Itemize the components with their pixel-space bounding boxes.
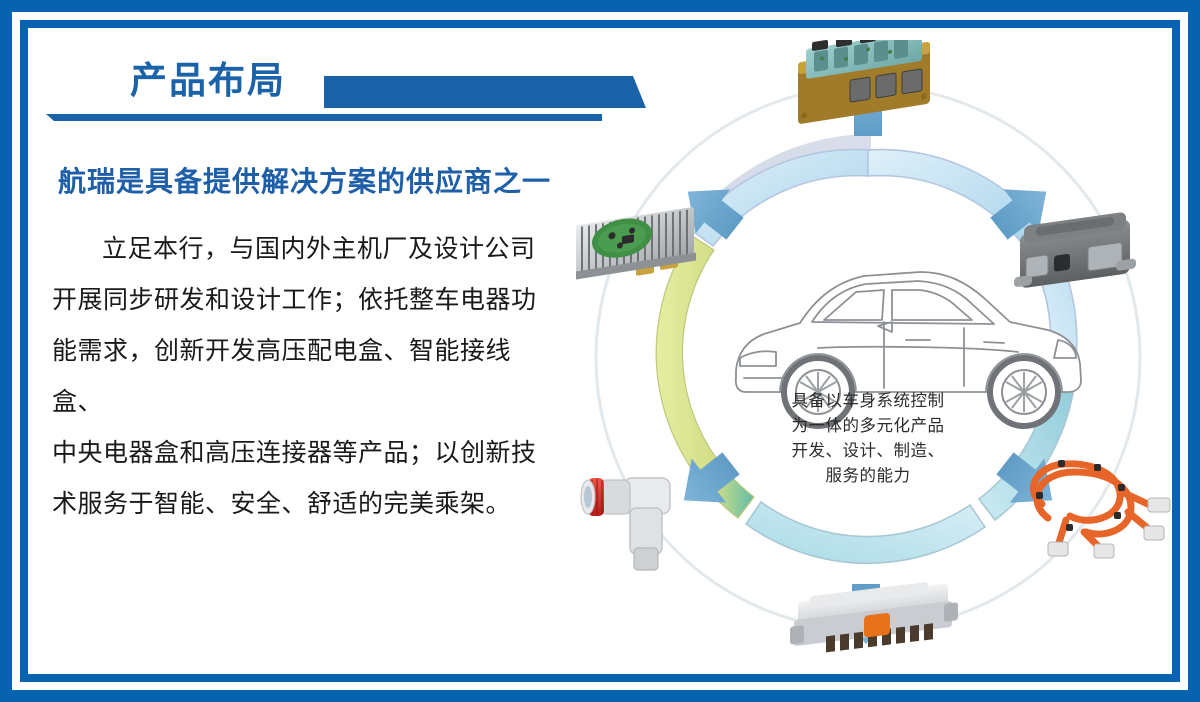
product-smart-junction-box-pcb: [798, 40, 930, 124]
arc-bottom: [746, 502, 985, 563]
product-cycle-diagram: 具备以车身系统控制 为一体的多元化产品 开发、设计、制造、 服务的能力: [548, 40, 1188, 670]
diagram-center-caption: 具备以车身系统控制 为一体的多元化产品 开发、设计、制造、 服务的能力: [753, 388, 983, 488]
product-high-voltage-connector: [581, 478, 670, 570]
section-title-row: 产品布局: [46, 52, 606, 114]
body-line: 立足本行，与国内外主机厂及设计公司: [52, 224, 544, 275]
title-underline-rule: [46, 114, 602, 121]
cycle-diagram-graphic: [548, 40, 1188, 670]
caption-line: 为一体的多元化产品: [753, 413, 983, 438]
caption-line: 服务的能力: [753, 463, 983, 488]
left-content-column: 产品布局 航瑞是具备提供解决方案的供应商之一 立足本行，与国内外主机厂及设计公司…: [46, 52, 606, 592]
caption-line: 开发、设计、制造、: [753, 438, 983, 463]
body-line: 术服务于智能、安全、舒适的完美乘架。: [52, 479, 544, 530]
body-paragraph: 立足本行，与国内外主机厂及设计公司 开展同步研发和设计工作；依托整车电器功 能需…: [52, 224, 544, 530]
product-high-voltage-cable-harness: [1033, 460, 1170, 558]
body-line: 开展同步研发和设计工作；依托整车电器功: [52, 275, 544, 326]
body-line: 能需求，创新开发高压配电盒、智能接线盒、: [52, 326, 544, 428]
body-line: 中央电器盒和高压连接器等产品；以创新技: [52, 428, 544, 479]
product-high-voltage-distribution-box: [790, 578, 958, 657]
page-title: 产品布局: [130, 58, 286, 104]
caption-line: 具备以车身系统控制: [753, 388, 983, 413]
subtitle: 航瑞是具备提供解决方案的供应商之一: [58, 160, 598, 200]
slide-canvas: 产品布局 航瑞是具备提供解决方案的供应商之一 立足本行，与国内外主机厂及设计公司…: [0, 0, 1200, 702]
